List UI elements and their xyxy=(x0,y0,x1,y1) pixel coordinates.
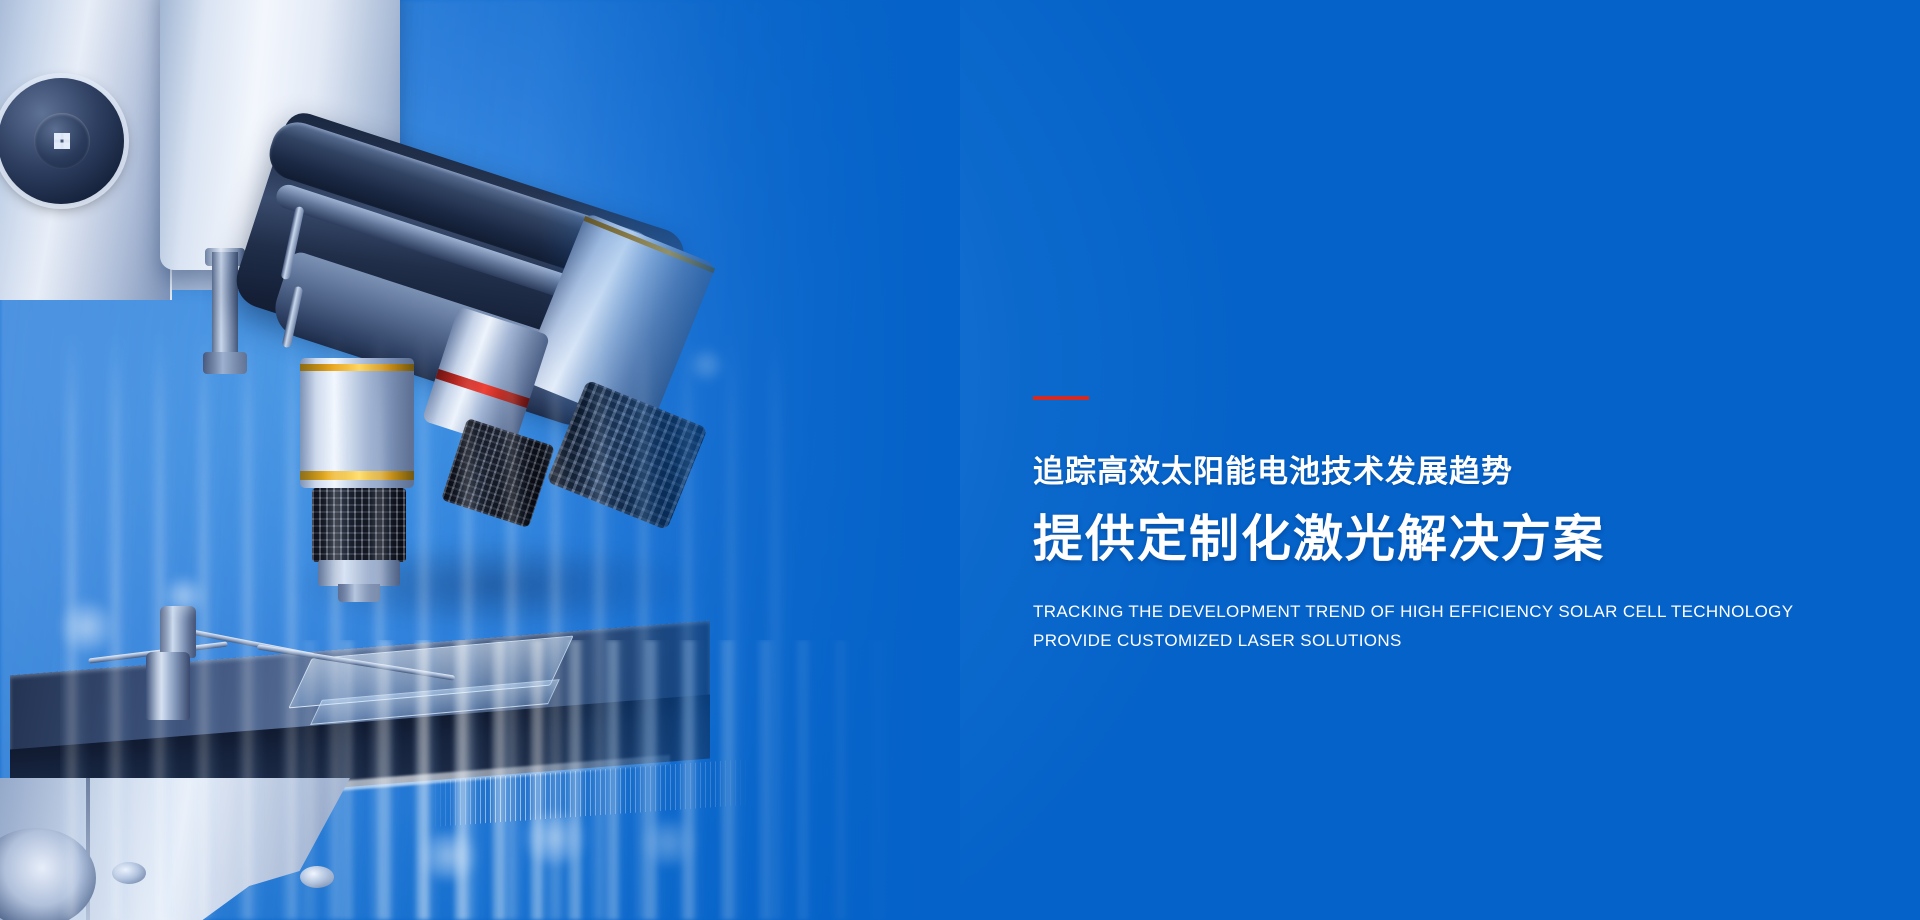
hero-copy-block: 追踪高效太阳能电池技术发展趋势 提供定制化激光解决方案 TRACKING THE… xyxy=(1033,396,1853,655)
hero-subheading-cn: 追踪高效太阳能电池技术发展趋势 xyxy=(1033,456,1853,487)
hero-banner: 追踪高效太阳能电池技术发展趋势 提供定制化激光解决方案 TRACKING THE… xyxy=(0,0,1920,920)
hero-subtitle-en-line1: TRACKING THE DEVELOPMENT TREND OF HIGH E… xyxy=(1033,597,1853,626)
bokeh-2 xyxy=(164,576,204,616)
photo-to-background-fade xyxy=(540,0,960,920)
focus-knob-center xyxy=(34,113,90,169)
microscope-body-left xyxy=(0,0,172,300)
bokeh-1 xyxy=(60,600,114,654)
hero-subtitle-en-line2: PROVIDE CUSTOMIZED LASER SOLUTIONS xyxy=(1033,626,1853,655)
hero-headline-cn: 提供定制化激光解决方案 xyxy=(1033,511,1853,567)
bokeh-3 xyxy=(418,832,480,880)
phillips-screw-icon xyxy=(54,133,70,149)
focus-knob xyxy=(0,78,124,204)
accent-rule xyxy=(1033,396,1089,400)
